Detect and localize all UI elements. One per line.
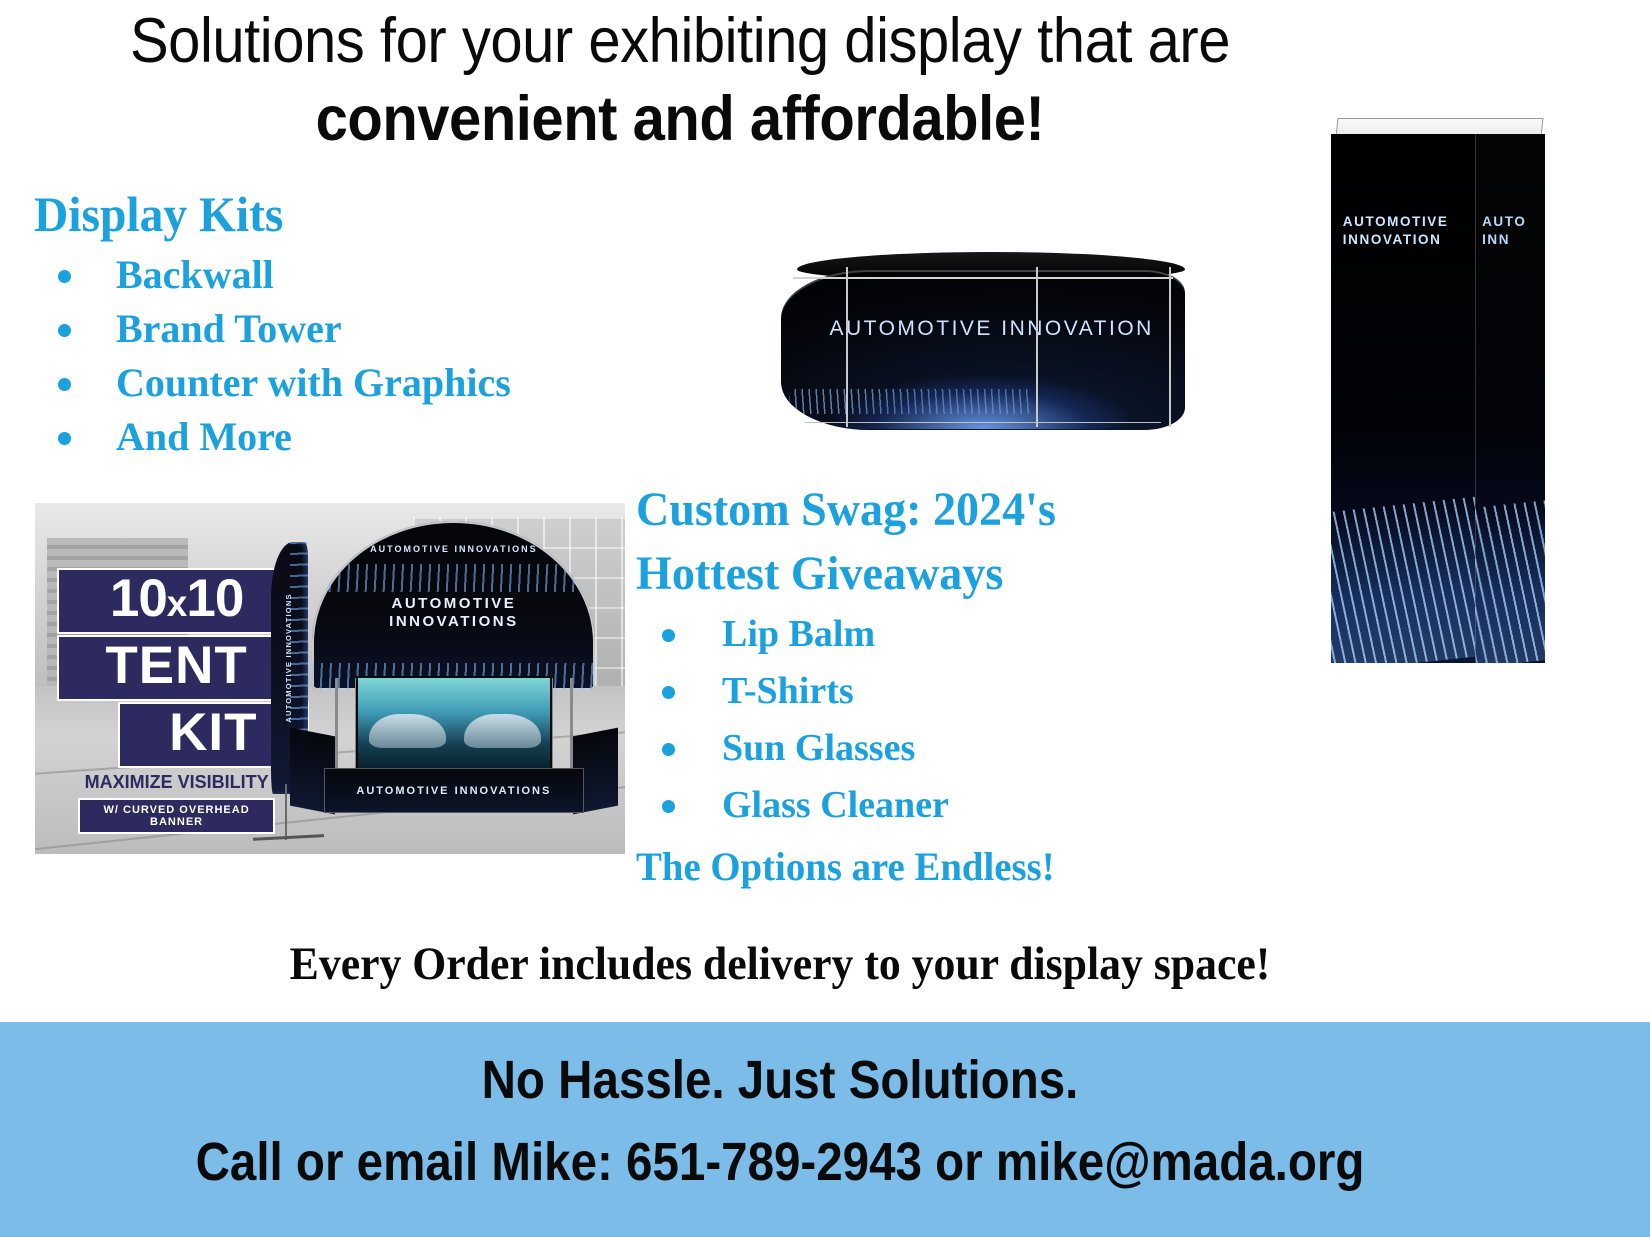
list-item: Backwall [34, 248, 674, 302]
counter-rail-top [793, 277, 1173, 279]
tower-front-line1: AUTOMOTIVE [1343, 214, 1449, 229]
tent-kit-size-band: 10x10 [59, 570, 295, 632]
tent-arch-streak-top [312, 564, 595, 591]
tent-counter-label: AUTOMOTIVE INNOVATIONS [324, 768, 585, 813]
counter-frame-post [1169, 267, 1171, 427]
list-item: Brand Tower [34, 302, 674, 356]
counter-graphic-panel: AUTOMOTIVE INNOVATION [781, 270, 1185, 430]
tower-side-line1: AUTO [1482, 214, 1526, 229]
display-kits-title: Display Kits [34, 186, 642, 242]
custom-swag-closing: The Options are Endless! [636, 842, 1257, 892]
list-item: And More [34, 410, 674, 464]
counter-label: AUTOMOTIVE INNOVATION [829, 317, 1168, 341]
list-item: Lip Balm [636, 606, 1276, 663]
contact-footer-bar: No Hassle. Just Solutions. Call or email… [0, 1022, 1650, 1237]
counter-wireframe-car [805, 361, 1128, 428]
tower-side-face: AUTO INN [1475, 134, 1545, 663]
tent-graphic-screen [358, 678, 551, 769]
feather-flag-pole [285, 784, 287, 840]
headline-line-2: convenient and affordable! [54, 80, 1305, 158]
footer-tagline: No Hassle. Just Solutions. [94, 1046, 1467, 1114]
display-kits-section: Display Kits Backwall Brand Tower Counte… [34, 186, 674, 464]
list-item-label: Sun Glasses [722, 727, 915, 769]
tent-kit-size-10b: 10 [186, 569, 243, 628]
bullet-dot-icon [662, 743, 675, 756]
screen-car-left [369, 714, 446, 748]
list-item-label: Glass Cleaner [722, 784, 949, 826]
bullet-dot-icon [662, 629, 675, 642]
screen-car-right [464, 714, 541, 748]
list-item-label: Backwall [116, 252, 274, 297]
list-item-label: T-Shirts [722, 670, 854, 712]
custom-swag-title-line1: Custom Swag: 2024's [636, 483, 1056, 536]
list-item-label: And More [116, 414, 292, 459]
tent-kit-word-tent: TENT [59, 637, 295, 699]
counter-rail-bottom [805, 422, 1161, 424]
list-item: T-Shirts [636, 663, 1276, 720]
headline-line-1: Solutions for your exhibiting display th… [130, 6, 1230, 76]
tent-kit-overlay: 10x10 TENT KIT MAXIMIZE VISIBILITY W/ CU… [59, 570, 295, 832]
screen-road [358, 745, 551, 769]
tower-front-face: AUTOMOTIVE INNOVATION [1331, 134, 1475, 663]
tower-front-label: AUTOMOTIVE INNOVATION [1343, 213, 1467, 249]
tent-kit-badge: W/ CURVED OVERHEAD BANNER [80, 800, 273, 832]
list-item: Sun Glasses [636, 720, 1276, 777]
list-item: Glass Cleaner [636, 777, 1276, 834]
custom-swag-section: Custom Swag: 2024's Hottest Giveaways Li… [636, 478, 1276, 892]
delivery-note: Every Order includes delivery to your di… [55, 935, 1506, 993]
counter-frame-post [1036, 267, 1038, 427]
list-item-label: Counter with Graphics [116, 360, 511, 405]
page-headline: Solutions for your exhibiting display th… [54, 2, 1305, 158]
feather-flag-label: AUTOMOTIVE INNOVATIONS [284, 593, 294, 722]
tent-arch-center-label: AUTOMOTIVE INNOVATIONS [312, 595, 595, 631]
bullet-dot-icon [58, 270, 71, 283]
list-item-label: Brand Tower [116, 306, 342, 351]
tent-arch-banner: AUTOMOTIVE INNOVATIONS AUTOMOTIVE INNOVA… [312, 521, 595, 690]
list-item-label: Lip Balm [722, 613, 875, 655]
bullet-dot-icon [58, 378, 71, 391]
tower-side-line2: INN [1482, 232, 1510, 247]
tent-arch-center-line1: AUTOMOTIVE [392, 595, 517, 612]
custom-swag-title: Custom Swag: 2024's Hottest Giveaways [636, 478, 1250, 606]
tent-arch-center-line2: INNOVATIONS [389, 613, 518, 630]
tent-kit-size-x: x [167, 583, 187, 624]
bullet-dot-icon [662, 686, 675, 699]
tower-corner-seam [1475, 134, 1476, 663]
tent-arch-top-label: AUTOMOTIVE INNOVATIONS [312, 544, 595, 554]
brand-tower-image: AUTOMOTIVE INNOVATION AUTO INN [1322, 118, 1554, 663]
counter-frame-post [846, 267, 848, 427]
tower-front-line2: INNOVATION [1343, 232, 1442, 247]
footer-contact: Call or email Mike: 651-789-2943 or mike… [94, 1128, 1467, 1196]
custom-swag-title-line2: Hottest Giveaways [636, 547, 1003, 600]
tent-kit-size-10a: 10 [110, 569, 167, 628]
arched-tent: AUTOMOTIVE INNOVATIONS AUTOMOTIVE INNOVA… [312, 521, 595, 823]
bullet-dot-icon [58, 324, 71, 337]
bullet-dot-icon [58, 432, 71, 445]
tower-light-streaks [1331, 495, 1475, 663]
display-kits-list: Backwall Brand Tower Counter with Graphi… [34, 248, 674, 464]
custom-swag-list: Lip Balm T-Shirts Sun Glasses Glass Clea… [636, 606, 1276, 834]
tower-side-label: AUTO INN [1482, 213, 1545, 249]
tent-kit-photo: 10x10 TENT KIT MAXIMIZE VISIBILITY W/ CU… [35, 503, 625, 854]
bullet-dot-icon [662, 800, 675, 813]
list-item: Counter with Graphics [34, 356, 674, 410]
tower-side-light-streaks [1475, 500, 1545, 663]
counter-display-image: AUTOMOTIVE INNOVATION [781, 252, 1185, 434]
tent-kit-subtitle: MAXIMIZE VISIBILITY [59, 772, 295, 793]
